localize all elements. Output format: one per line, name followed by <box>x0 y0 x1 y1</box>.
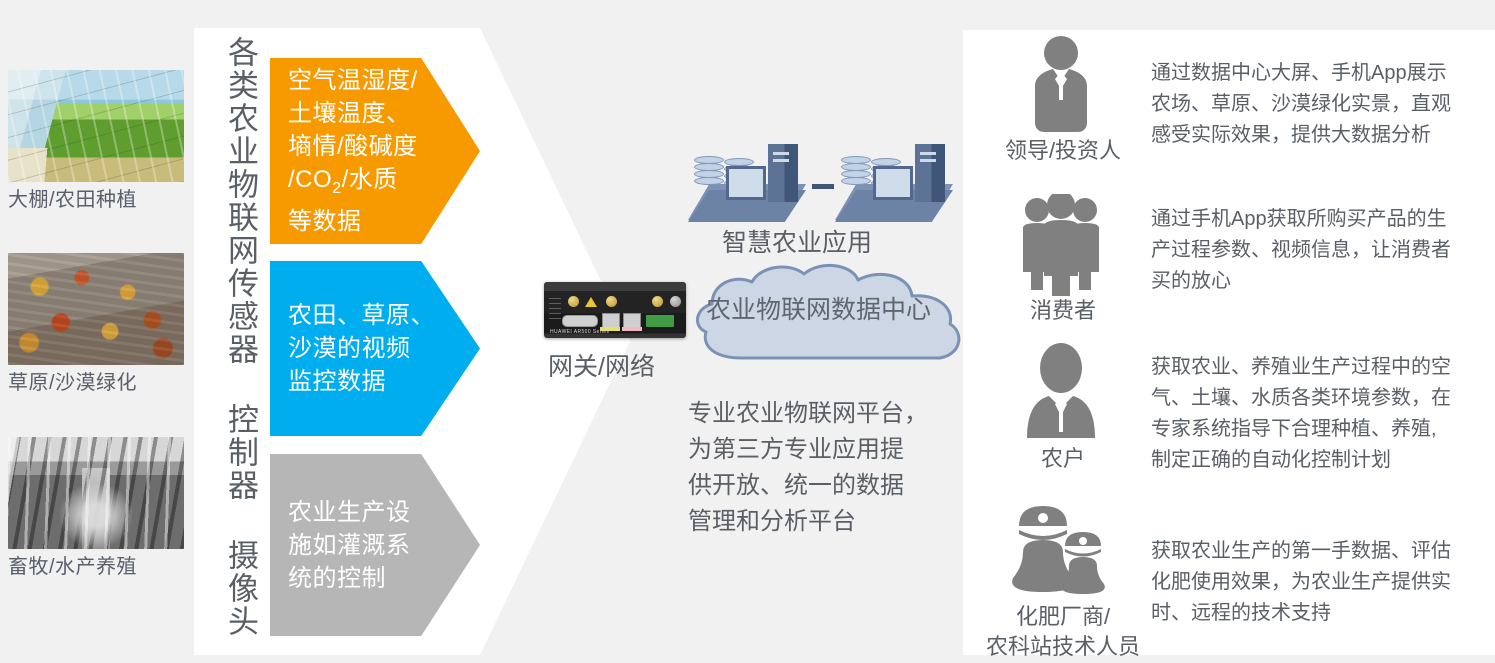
grassland-photo <box>8 253 184 365</box>
role-label-consumer: 消费者 <box>963 296 1163 326</box>
tower-icon <box>768 144 798 202</box>
arrow-line-1: 空气温湿度/ <box>288 67 418 94</box>
antenna-port-icon <box>568 296 579 307</box>
platform-description-paragraph: 专业农业物联网平台， 为第三方专业应用提 供开放、统一的数据 管理和分析平台 <box>688 396 958 540</box>
thumbnail-item: 畜牧/水产养殖 <box>8 437 184 582</box>
scene-thumbnails-column: 大棚/农田种植 草原/沙漠绿化 畜牧/水产养殖 <box>0 0 194 663</box>
arrow-line-4b: /水质 <box>342 166 398 193</box>
role-row-leader: 领导/投资人 通过数据中心大屏、手机App展示 农场、草原、沙漠绿化实景，直观 … <box>963 30 1495 180</box>
antenna-port-icon <box>606 296 617 307</box>
arrow-line-3: 墒情/酸碱度 <box>288 133 418 160</box>
people-group-icon <box>1001 194 1121 298</box>
arrow-control-data-text: 农业生产设 施如灌溉系 统的控制 <box>270 496 421 595</box>
technician-pair-icon <box>1001 500 1121 604</box>
livestock-barn-photo <box>8 437 184 549</box>
gateway-device-icon: HUAWEI AR500 Series <box>544 282 686 338</box>
role-row-farmer: 农户 获取农业、养殖业生产过程中的空 气、土壤、水质各类环境参数，在 专家系统指… <box>963 338 1495 486</box>
role-row-technician: 化肥厂商/ 农科站技术人员 获取农业生产的第一手数据、评估 化肥使用效果，为农业… <box>963 496 1495 663</box>
role-label-farmer: 农户 <box>963 444 1163 474</box>
data-center-cloud-caption: 农业物联网数据中心 <box>706 293 931 327</box>
businessman-icon <box>1001 34 1121 138</box>
slide-canvas: 大棚/农田种植 草原/沙漠绿化 畜牧/水产养殖 各类农业物联网传感器 控制器 摄… <box>0 0 1495 663</box>
gateway-top-panel <box>544 282 686 291</box>
thumbnail-caption: 大棚/农田种植 <box>8 182 184 215</box>
thumbnail-item: 大棚/农田种植 <box>8 70 184 215</box>
thumbnail-caption: 畜牧/水产养殖 <box>8 549 184 582</box>
antenna-port-icon <box>652 296 663 307</box>
farmer-person-icon <box>1001 342 1121 446</box>
arrow-line-4-subscript: 2 <box>332 180 341 197</box>
tower-icon <box>915 144 945 202</box>
arrow-line-5: 等数据 <box>288 208 362 235</box>
gateway-caption: 网关/网络 <box>548 350 655 384</box>
arrow-sensor-data-text: 空气温湿度/土壤温度、墒情/酸碱度/CO2/水质等数据 <box>270 64 428 238</box>
smart-agriculture-apps-icon <box>688 144 953 224</box>
vertical-sensors-label: 各类农业物联网传感器 控制器 摄像头 <box>206 36 260 648</box>
server-link-line <box>812 184 834 189</box>
role-description-technician: 获取农业生产的第一手数据、评估 化肥使用效果，为农业生产提供实 时、远程的技术支… <box>1151 536 1491 629</box>
role-label-technician: 化肥厂商/ 农科站技术人员 <box>939 602 1187 662</box>
arrow-line-4a: /CO <box>288 166 332 193</box>
role-label-leader: 领导/投资人 <box>963 136 1163 166</box>
thumbnail-caption: 草原/沙漠绿化 <box>8 365 184 398</box>
serial-port-icon <box>562 315 598 327</box>
smart-agriculture-apps-caption: 智慧农业应用 <box>722 226 872 260</box>
role-description-farmer: 获取农业、养殖业生产过程中的空 气、土壤、水质各类环境参数，在 专家系统指导下合… <box>1151 352 1491 476</box>
role-description-leader: 通过数据中心大屏、手机App展示 农场、草原、沙漠绿化实景，直观 感受实际效果，… <box>1151 58 1491 151</box>
warning-triangle-icon <box>585 297 597 307</box>
greenhouse-photo <box>8 70 184 182</box>
terminal-block-icon <box>646 315 674 327</box>
server-icon <box>688 144 806 224</box>
gateway-led-strip <box>549 298 561 322</box>
monitor-icon <box>726 166 766 200</box>
arrow-line-2: 土壤温度、 <box>288 100 411 127</box>
role-description-consumer: 通过手机App获取所购买产品的生 产过程参数、视频信息，让消费者 买的放心 <box>1151 204 1491 297</box>
role-row-consumer: 消费者 通过手机App获取所购买产品的生 产过程参数、视频信息，让消费者 买的放… <box>963 190 1495 330</box>
arrow-video-data-text: 农田、草原、 沙漠的视频 监控数据 <box>270 299 445 398</box>
monitor-icon <box>873 166 913 200</box>
thumbnail-item: 草原/沙漠绿化 <box>8 253 184 398</box>
server-icon <box>835 144 953 224</box>
port-label-pink <box>622 327 642 331</box>
gateway-brand-text: HUAWEI AR500 Series <box>550 329 609 335</box>
